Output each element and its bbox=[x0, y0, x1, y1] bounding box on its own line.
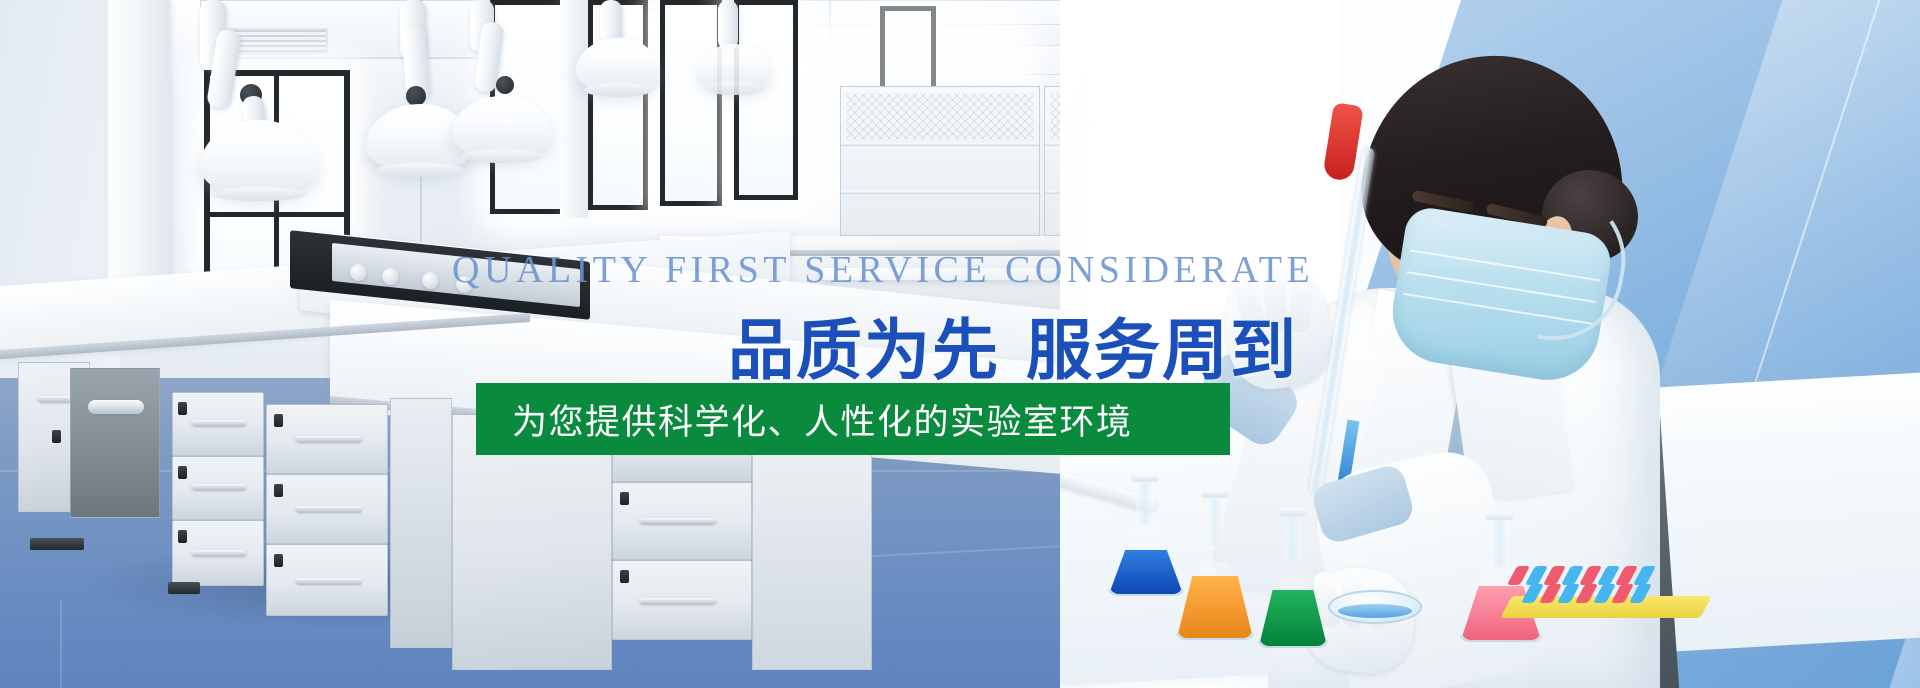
headline-part-2: 服务周到 bbox=[1026, 313, 1298, 387]
text-overlay: QUALITY FIRST SERVICE CONSIDERATE 品质为先服务… bbox=[0, 0, 1920, 688]
subtitle-band: 为您提供科学化、人性化的实验室环境 bbox=[476, 383, 1230, 455]
promo-banner: QUALITY FIRST SERVICE CONSIDERATE 品质为先服务… bbox=[0, 0, 1920, 688]
main-headline: 品质为先服务周到 bbox=[728, 297, 1298, 393]
english-tagline: QUALITY FIRST SERVICE CONSIDERATE bbox=[452, 248, 1314, 292]
subtitle-text: 为您提供科学化、人性化的实验室环境 bbox=[476, 394, 1133, 445]
headline-part-1: 品质为先 bbox=[728, 313, 1000, 387]
